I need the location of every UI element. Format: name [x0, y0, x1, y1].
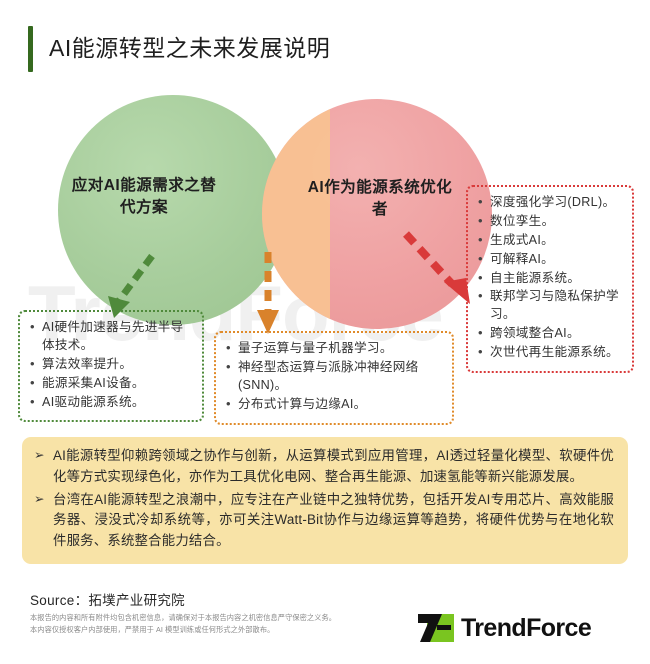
disclaimer-text: 本报告的内容和所有附件均包含机密信息，请确保对于本报告内容之机密信息严守保密之义…	[30, 612, 336, 636]
trendforce-logo-text: TrendForce	[461, 616, 591, 641]
trendforce-logo-icon	[418, 612, 454, 644]
source-label: Source：拓墣产业研究院	[30, 589, 185, 609]
list-item: AI硬件加速器与先进半导体技术。	[29, 319, 193, 355]
list-item: 分布式计算与边缘AI。	[225, 396, 443, 414]
detail-list-left: AI硬件加速器与先进半导体技术。 算法效率提升。 能源采集AI设备。 AI驱动能…	[29, 319, 193, 411]
detail-box-right: 深度强化学习(DRL)。 数位孪生。 生成式AI。 可解释AI。 自主能源系统。…	[466, 185, 634, 373]
detail-list-right: 深度强化学习(DRL)。 数位孪生。 生成式AI。 可解释AI。 自主能源系统。…	[477, 194, 623, 362]
summary-point: 台湾在AI能源转型之浪潮中，应专注在产业链中之独特优势，包括开发AI专用芯片、高…	[34, 490, 614, 552]
summary-list: AI能源转型仰赖跨领域之协作与创新，从运算模式到应用管理，AI透过轻量化模型、软…	[34, 446, 614, 552]
list-item: 自主能源系统。	[477, 270, 623, 288]
page-title: AI能源转型之未来发展说明	[28, 26, 330, 72]
list-item: 数位孪生。	[477, 213, 623, 231]
list-item: 神经型态运算与派脉冲神经网络(SNN)。	[225, 359, 443, 395]
list-item: 可解释AI。	[477, 251, 623, 269]
disclaimer-line-2: 本内容仅授权客户内部使用，严禁用于 AI 模型训练或任何形式之外部散布。	[30, 624, 336, 636]
title-accent-bar	[28, 26, 33, 72]
list-item: 深度强化学习(DRL)。	[477, 194, 623, 212]
detail-box-left: AI硬件加速器与先进半导体技术。 算法效率提升。 能源采集AI设备。 AI驱动能…	[18, 310, 204, 422]
list-item: 算法效率提升。	[29, 356, 193, 374]
venn-label-right: AI作为能源系统优化者	[300, 177, 460, 222]
list-item: 次世代再生能源系统。	[477, 344, 623, 362]
trendforce-logo: TrendForce	[418, 612, 591, 644]
summary-point: AI能源转型仰赖跨领域之协作与创新，从运算模式到应用管理，AI透过轻量化模型、软…	[34, 446, 614, 488]
disclaimer-line-1: 本报告的内容和所有附件均包含机密信息，请确保对于本报告内容之机密信息严守保密之义…	[30, 612, 336, 624]
summary-panel: AI能源转型仰赖跨领域之协作与创新，从运算模式到应用管理，AI透过轻量化模型、软…	[22, 437, 628, 564]
list-item: 联邦学习与隐私保护学习。	[477, 288, 623, 324]
list-item: 能源采集AI设备。	[29, 375, 193, 393]
list-item: 量子运算与量子机器学习。	[225, 340, 443, 358]
detail-list-middle: 量子运算与量子机器学习。 神经型态运算与派脉冲神经网络(SNN)。 分布式计算与…	[225, 340, 443, 414]
list-item: 生成式AI。	[477, 232, 623, 250]
orange-dashed-arrow-icon	[255, 250, 281, 340]
list-item: AI驱动能源系统。	[29, 394, 193, 412]
slide-canvas: TrendForce AI能源转型之未来发展说明 应对AI能源需求之替代方案 A…	[0, 0, 650, 664]
venn-label-left: 应对AI能源需求之替代方案	[64, 175, 224, 220]
detail-box-middle: 量子运算与量子机器学习。 神经型态运算与派脉冲神经网络(SNN)。 分布式计算与…	[214, 331, 454, 425]
list-item: 跨领域整合AI。	[477, 325, 623, 343]
title-text: AI能源转型之未来发展说明	[49, 36, 330, 61]
